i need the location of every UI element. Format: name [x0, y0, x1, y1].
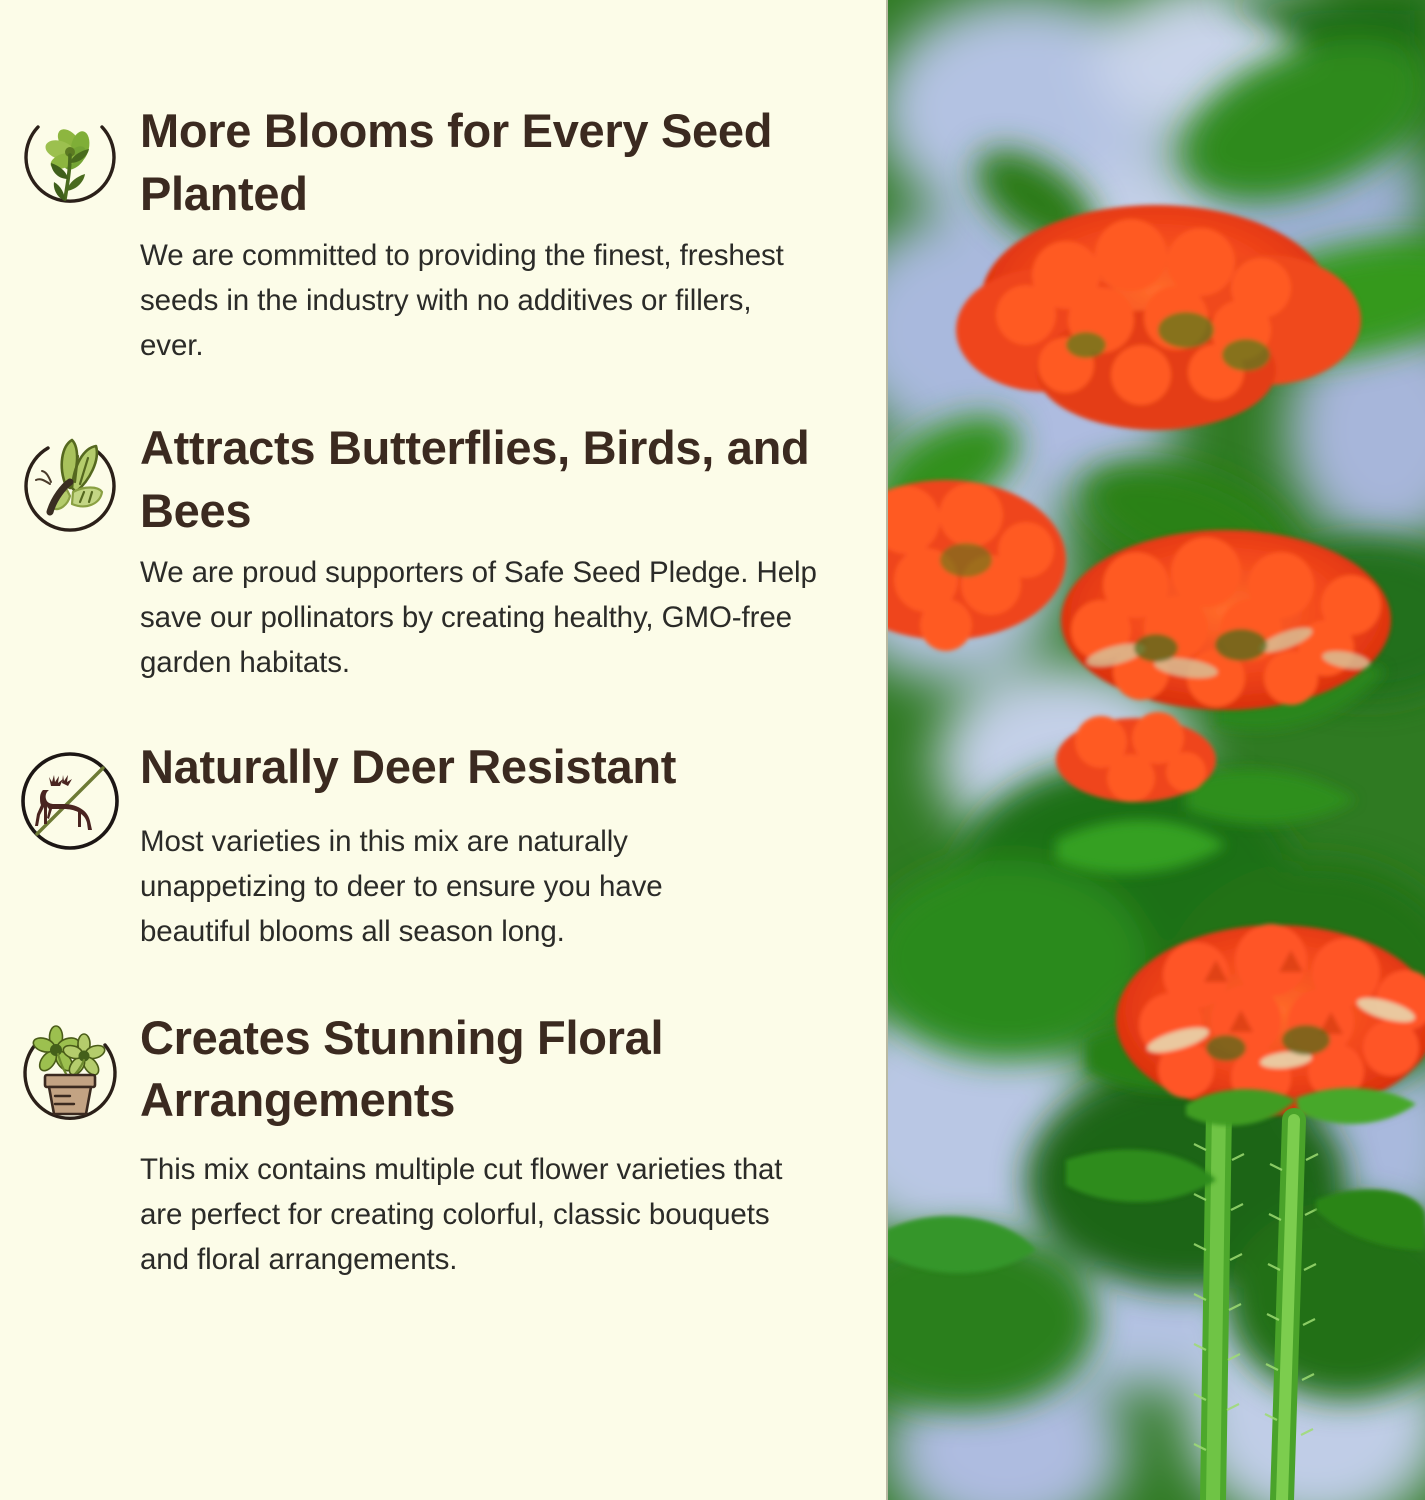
benefits-panel: More Blooms for Every Seed Planted We ar… [0, 0, 886, 1500]
benefit-text-block: Creates Stunning Floral Arrangements Thi… [140, 1007, 856, 1282]
benefit-title: Creates Stunning Floral Arrangements [140, 1007, 836, 1132]
benefit-title: More Blooms for Every Seed Planted [140, 100, 836, 225]
benefit-text-block: Naturally Deer Resistant Most varieties … [140, 736, 856, 955]
benefit-description: This mix contains multiple cut flower va… [140, 1148, 820, 1282]
benefits-infographic: More Blooms for Every Seed Planted We ar… [0, 0, 1425, 1500]
benefit-text-block: Attracts Butterflies, Birds, and Bees We… [140, 417, 856, 685]
benefit-title: Attracts Butterflies, Birds, and Bees [140, 417, 836, 542]
benefit-item-floral-arrangements: Creates Stunning Floral Arrangements Thi… [0, 1007, 886, 1282]
panel-divider [886, 0, 888, 1500]
benefit-description: We are proud supporters of Safe Seed Ple… [140, 551, 836, 685]
benefit-description: Most varieties in this mix are naturally… [140, 820, 780, 954]
benefit-description: We are committed to providing the finest… [140, 234, 790, 368]
benefit-text-block: More Blooms for Every Seed Planted We ar… [140, 100, 856, 368]
potted-flowers-icon [0, 1007, 140, 1124]
benefit-item-deer-resistant: Naturally Deer Resistant Most varieties … [0, 736, 886, 955]
product-photo [886, 0, 1425, 1500]
butterfly-icon [0, 417, 140, 534]
benefit-item-attracts-pollinators: Attracts Butterflies, Birds, and Bees We… [0, 417, 886, 685]
benefit-title: Naturally Deer Resistant [140, 736, 836, 799]
flower-sprout-icon [0, 100, 140, 217]
benefit-item-more-blooms: More Blooms for Every Seed Planted We ar… [0, 100, 886, 368]
no-deer-icon [0, 736, 140, 853]
